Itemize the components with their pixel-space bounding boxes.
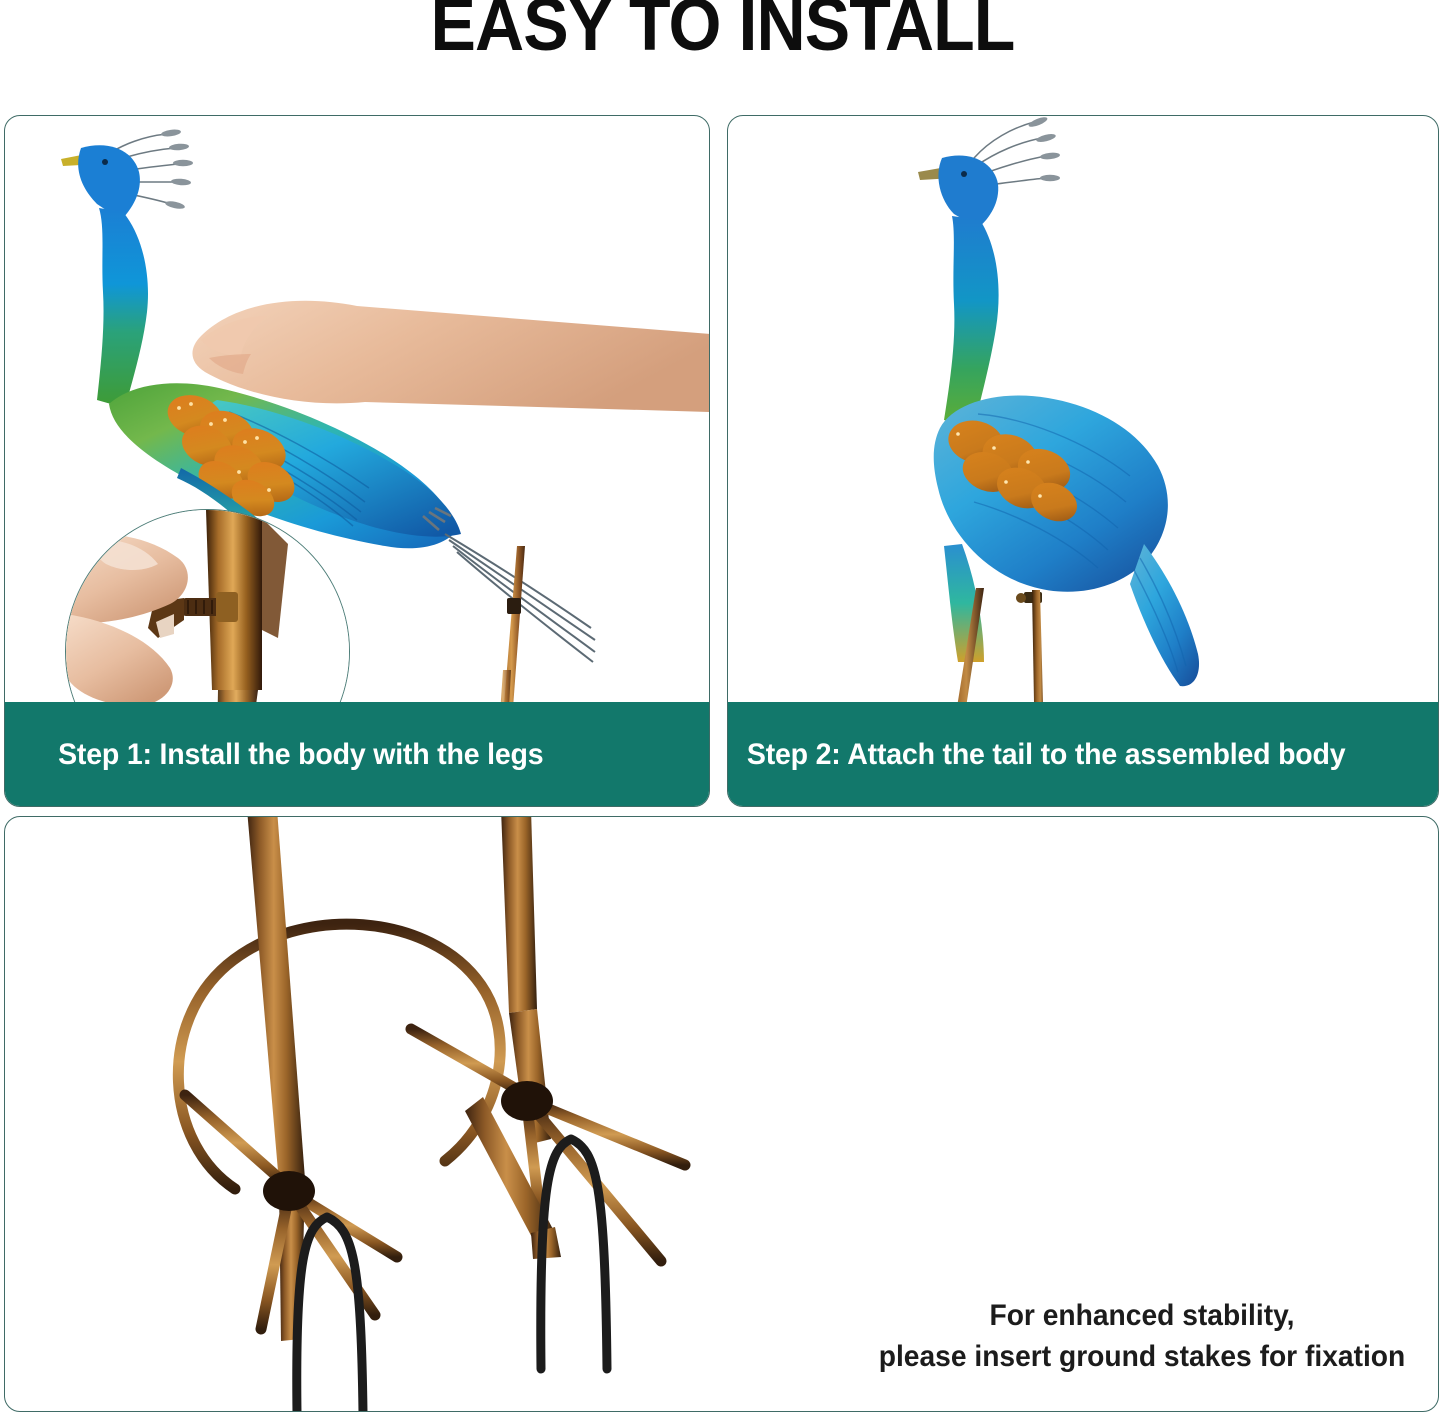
step-2-label: Step 2: Attach the tail to the assembled… bbox=[728, 738, 1346, 772]
panel-step-2: Step 2: Attach the tail to the assembled… bbox=[727, 115, 1439, 807]
assembled-peacock-illustration bbox=[858, 116, 1278, 714]
panel-ground-stakes-content: For enhanced stability, please insert gr… bbox=[5, 817, 1438, 1411]
peacock-head-2 bbox=[938, 156, 998, 228]
peacock-eye bbox=[102, 159, 108, 165]
stake-base-closeup bbox=[65, 817, 825, 1411]
peacock-neck bbox=[97, 208, 148, 408]
hand-holding-body bbox=[192, 301, 709, 412]
step-1-banner: Step 1: Install the body with the legs bbox=[5, 702, 709, 806]
panel-ground-stakes: For enhanced stability, please insert gr… bbox=[4, 816, 1439, 1412]
page-title: EASY TO INSTALL bbox=[58, 0, 1387, 62]
stability-caption: For enhanced stability, please insert gr… bbox=[865, 1295, 1420, 1378]
caption-line-1: For enhanced stability, bbox=[865, 1295, 1420, 1336]
step-2-banner: Step 2: Attach the tail to the assembled… bbox=[728, 702, 1438, 806]
crest-tips bbox=[161, 128, 193, 210]
right-weld-joint bbox=[501, 1081, 553, 1121]
left-weld-joint bbox=[263, 1171, 315, 1211]
step-1-label: Step 1: Install the body with the legs bbox=[5, 738, 544, 772]
left-leg-post bbox=[247, 817, 305, 1183]
caption-line-2: please insert ground stakes for fixation bbox=[865, 1336, 1420, 1377]
right-leg-post bbox=[501, 817, 537, 1013]
infographic-root: EASY TO INSTALL bbox=[0, 0, 1445, 1424]
crest-tips-2 bbox=[1028, 116, 1061, 181]
tail-sweep-2 bbox=[1130, 544, 1199, 686]
peacock-eye-2 bbox=[961, 171, 967, 177]
panel-step-1: Step 1: Install the body with the legs bbox=[4, 115, 710, 807]
panel-step-1-content: Step 1: Install the body with the legs bbox=[5, 116, 709, 806]
peacock-neck-2 bbox=[944, 216, 999, 428]
panel-step-2-content: Step 2: Attach the tail to the assembled… bbox=[728, 116, 1438, 806]
